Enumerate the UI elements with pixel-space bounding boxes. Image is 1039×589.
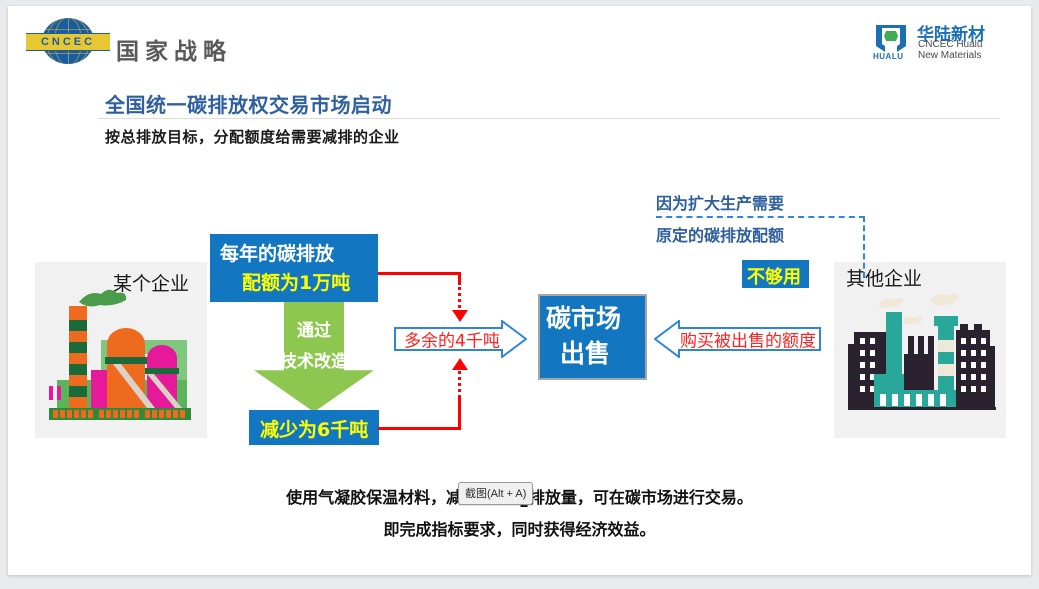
slide-canvas: CNCEC 国家战略 HUALU 华陆新材 CNCEC Hualu New Ma… bbox=[8, 6, 1031, 575]
cncec-logo-text: CNCEC bbox=[26, 33, 110, 51]
red-connector-top-horizontal bbox=[378, 272, 461, 275]
annual-quota-line1: 每年的碳排放 bbox=[220, 239, 334, 266]
hualu-logo: HUALU 华陆新材 CNCEC Hualu New Materials bbox=[873, 20, 1009, 64]
annual-quota-box: 每年的碳排放 配额为1万吨 bbox=[210, 234, 378, 302]
green-down-arrow: 通过 技术改造 bbox=[254, 302, 374, 412]
hualu-mark-icon bbox=[873, 22, 909, 52]
expansion-annotation-line1: 因为扩大生产需要 bbox=[656, 190, 784, 214]
not-enough-label: 不够用 bbox=[747, 263, 801, 289]
green-arrow-line2: 技术改造 bbox=[254, 347, 374, 372]
expansion-annotation-line2: 原定的碳排放配额 bbox=[656, 222, 784, 246]
snip-tooltip[interactable]: 截图(Alt + A) bbox=[458, 482, 533, 505]
red-connector-bottom-vertical bbox=[458, 396, 461, 430]
globe-parallel-3 bbox=[42, 53, 94, 54]
surplus-arrow-label: 多余的4千吨 bbox=[404, 327, 500, 352]
not-enough-badge: 不够用 bbox=[742, 260, 809, 288]
red-arrowhead-up-icon bbox=[452, 358, 468, 370]
carbon-market-line2: 出售 bbox=[560, 334, 610, 370]
green-arrow-line1: 通过 bbox=[254, 316, 374, 341]
reduced-emission-label: 减少为6千吨 bbox=[260, 415, 368, 442]
red-connector-bottom-horizontal bbox=[378, 427, 461, 430]
carbon-market-box: 碳市场 出售 bbox=[538, 294, 647, 380]
brand-title: 国家战略 bbox=[116, 32, 232, 66]
buy-arrow: 购买被出售的额度 bbox=[654, 320, 821, 358]
title-divider bbox=[98, 118, 1000, 119]
hualu-wordmark: HUALU bbox=[873, 52, 904, 61]
surplus-arrow: 多余的4千吨 bbox=[394, 320, 527, 358]
page-subtitle: 按总排放目标，分配额度给需要减排的企业 bbox=[105, 126, 400, 147]
right-company-label: 其他企业 bbox=[846, 264, 922, 291]
annual-quota-line2: 配额为1万吨 bbox=[242, 268, 350, 295]
caption-line1-part-a: 使用气凝胶保温材料， bbox=[286, 488, 446, 507]
page-title: 全国统一碳排放权交易市场启动 bbox=[105, 89, 392, 118]
cncec-logo: CNCEC bbox=[26, 18, 110, 64]
caption-line2: 即完成指标要求，同时获得经济效益。 bbox=[8, 516, 1031, 540]
reduced-emission-box: 减少为6千吨 bbox=[249, 410, 379, 445]
hualu-name-en-line1: CNCEC Hualu bbox=[918, 39, 982, 50]
carbon-market-line1: 碳市场 bbox=[546, 299, 621, 335]
left-company-label: 某个企业 bbox=[113, 269, 189, 296]
globe-parallel-1 bbox=[42, 29, 94, 30]
red-dotted-up bbox=[458, 366, 461, 398]
caption-line1-part-d: 排放量，可在碳市场进行交易。 bbox=[529, 488, 753, 507]
blue-dashed-horizontal bbox=[656, 216, 865, 218]
hualu-name-en-line2: New Materials bbox=[918, 50, 981, 61]
buy-arrow-label: 购买被出售的额度 bbox=[680, 327, 816, 352]
